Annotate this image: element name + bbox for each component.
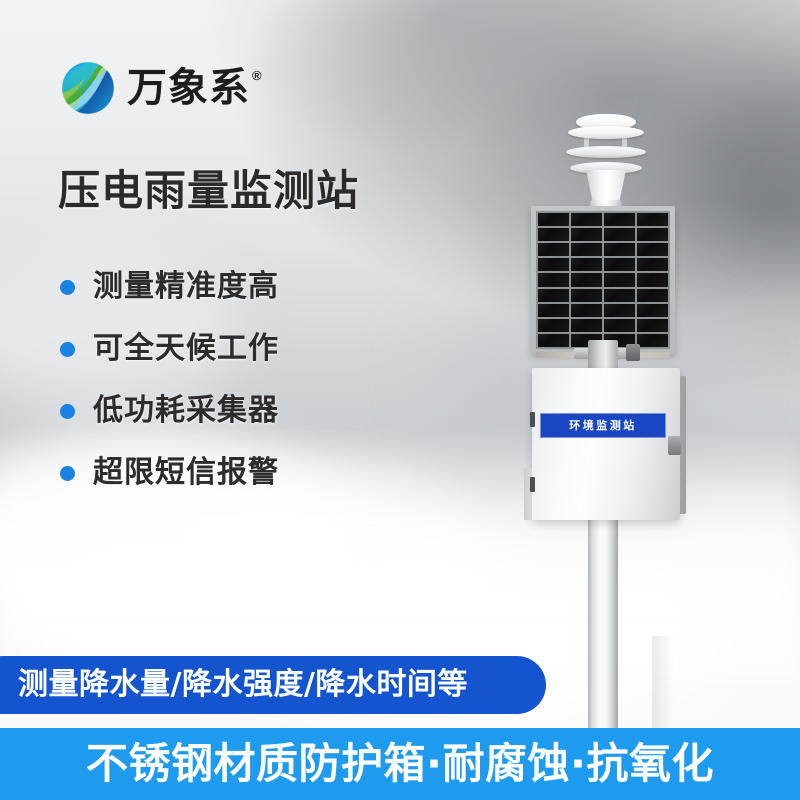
feature-list: 测量精准度高 可全天候工作 低功耗采集器 超限短信报警 xyxy=(60,256,279,504)
blue-dot-icon xyxy=(60,342,75,357)
feature-label: 可全天候工作 xyxy=(93,334,279,364)
feature-label: 低功耗采集器 xyxy=(93,396,279,426)
enclosure-hinge-top xyxy=(530,412,535,427)
bracket-knob xyxy=(626,344,640,361)
bottom-bar-text: 不锈钢材质防护箱·耐腐蚀·抗氧化 xyxy=(86,743,714,785)
capability-pill-text: 测量降水量/降水强度/降水时间等 xyxy=(18,670,468,700)
bottom-feature-bar: 不锈钢材质防护箱·耐腐蚀·抗氧化 xyxy=(0,728,800,800)
feature-label: 超限短信报警 xyxy=(93,458,279,488)
feature-label: 测量精准度高 xyxy=(93,272,279,302)
list-item: 可全天候工作 xyxy=(60,318,279,380)
list-item: 测量精准度高 xyxy=(60,256,279,318)
product-marketing-banner: 环境监测站 xyxy=(0,0,800,800)
radiation-shield-disc xyxy=(568,126,644,139)
trademark-icon: ® xyxy=(252,69,262,82)
brand-name: 万象系 xyxy=(127,68,250,108)
enclosure-hinge-bottom xyxy=(530,477,535,492)
enclosure-latch xyxy=(668,436,681,455)
solar-panel-icon xyxy=(531,206,675,354)
enclosure-nameplate: 环境监测站 xyxy=(540,413,666,438)
globe-swirl-logo-icon xyxy=(58,58,118,118)
blue-dot-icon xyxy=(60,280,75,295)
blue-dot-icon xyxy=(60,466,75,481)
enclosure-label-text: 环境监测站 xyxy=(569,420,637,431)
list-item: 超限短信报警 xyxy=(60,442,279,504)
blue-dot-icon xyxy=(60,404,75,419)
list-item: 低功耗采集器 xyxy=(60,380,279,442)
enclosure-box xyxy=(532,368,680,520)
sensor-cone xyxy=(586,170,626,204)
brand-logo[interactable]: 万象系 ® xyxy=(58,58,262,118)
page-title: 压电雨量监测站 xyxy=(58,168,359,214)
solar-cell-grid xyxy=(536,211,670,349)
radiation-shield-disc xyxy=(566,146,646,158)
product-image: 环境监测站 xyxy=(480,100,780,680)
capability-pill-banner: 测量降水量/降水强度/降水时间等 xyxy=(0,656,546,714)
